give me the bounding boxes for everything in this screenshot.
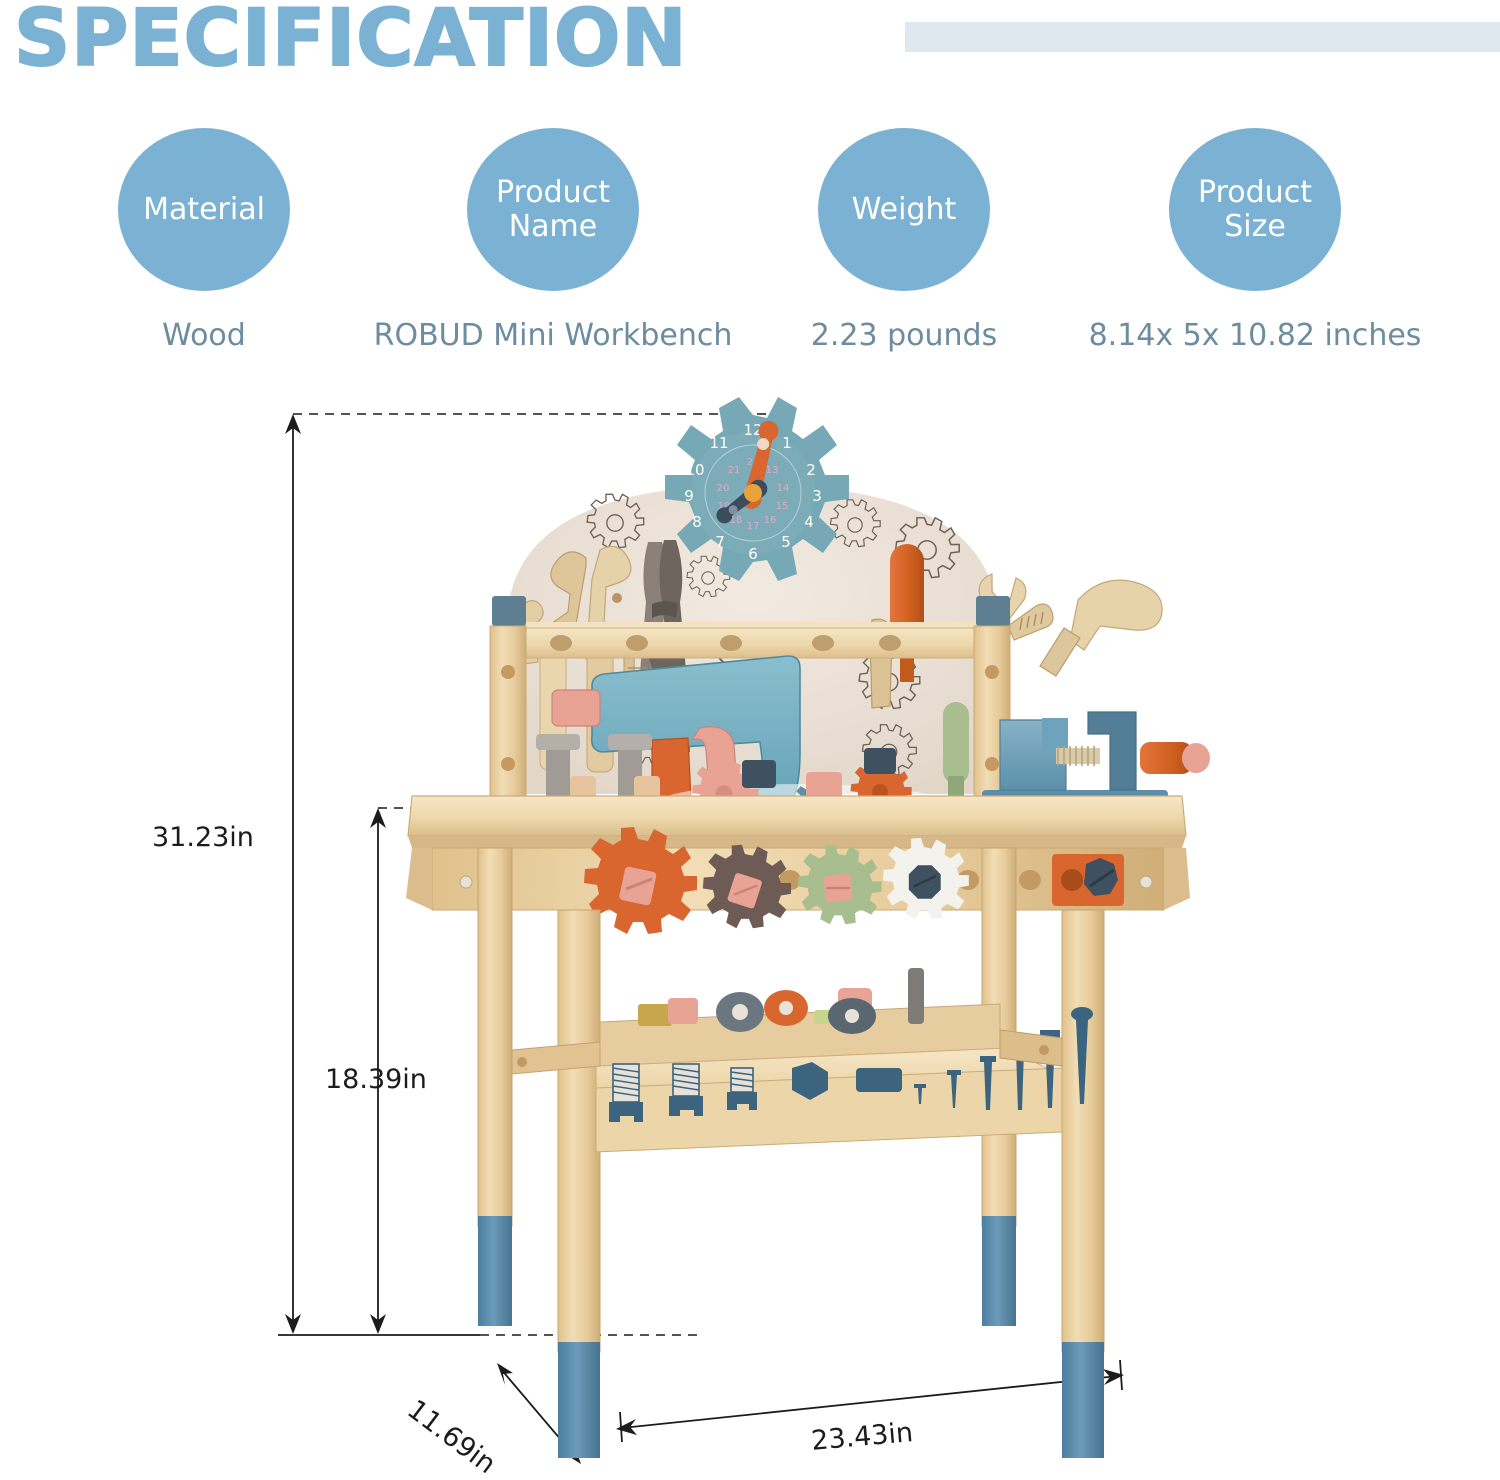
spec-value-material: Wood: [162, 318, 246, 353]
svg-text:14: 14: [777, 483, 790, 494]
svg-text:4: 4: [804, 513, 814, 531]
post-left: [490, 626, 526, 802]
apron-screw: [460, 876, 472, 888]
page-title: SPECIFICATION: [14, 0, 688, 84]
spec-circle-product-name: ProductName: [467, 128, 639, 291]
spec-value-product-size: 8.14x 5x 10.82 inches: [1089, 318, 1422, 353]
bench-top: [408, 796, 1186, 848]
rail-cap-left: [492, 596, 526, 626]
svg-text:17: 17: [747, 521, 760, 532]
bench-legs: [478, 848, 1104, 1458]
rail-cap-right: [976, 596, 1010, 626]
svg-text:9: 9: [684, 487, 694, 505]
svg-text:8: 8: [692, 513, 702, 531]
svg-text:16: 16: [764, 515, 777, 526]
dimension-label-height-total: 31.23in: [152, 822, 254, 853]
spec-circle-product-size: ProductSize: [1169, 128, 1341, 291]
svg-text:1: 1: [782, 434, 792, 452]
spec-circle-label: ProductSize: [1198, 176, 1312, 243]
svg-text:2: 2: [806, 461, 816, 479]
svg-text:7: 7: [715, 533, 725, 551]
spec-circle-material: Material: [118, 128, 290, 291]
spec-circle-label: Weight: [852, 193, 957, 227]
vise-screw-thread: [1058, 746, 1094, 766]
vise-knob: [1182, 743, 1210, 773]
spec-circle-weight: Weight: [818, 128, 990, 291]
spec-value-weight: 2.23 pounds: [811, 318, 997, 353]
tool-hammer: [1040, 580, 1162, 676]
drill-bit: [552, 690, 600, 726]
svg-text:20: 20: [717, 483, 730, 494]
workbench-drawing: 12 1 2 3 4 5 6 7 8 9 10 11 24 13 14 15 1…: [0, 390, 1500, 1464]
svg-text:13: 13: [766, 465, 779, 476]
dimension-label-height-bench: 18.39in: [325, 1064, 427, 1095]
spec-value-product-name: ROBUD Mini Workbench: [374, 318, 733, 353]
apron-plate-bolt: [1052, 854, 1124, 906]
svg-text:21: 21: [728, 465, 741, 476]
svg-text:3: 3: [812, 487, 822, 505]
header-rule: [905, 22, 1500, 52]
svg-text:5: 5: [781, 533, 791, 551]
svg-text:10: 10: [685, 461, 704, 479]
svg-text:15: 15: [776, 501, 789, 512]
product-illustration: 12 1 2 3 4 5 6 7 8 9 10 11 24 13 14 15 1…: [0, 390, 1500, 1464]
apron-screw: [1140, 876, 1152, 888]
spec-circle-label: ProductName: [496, 176, 610, 243]
spec-circle-label: Material: [143, 193, 265, 227]
svg-text:11: 11: [709, 434, 728, 452]
svg-text:6: 6: [748, 545, 758, 563]
